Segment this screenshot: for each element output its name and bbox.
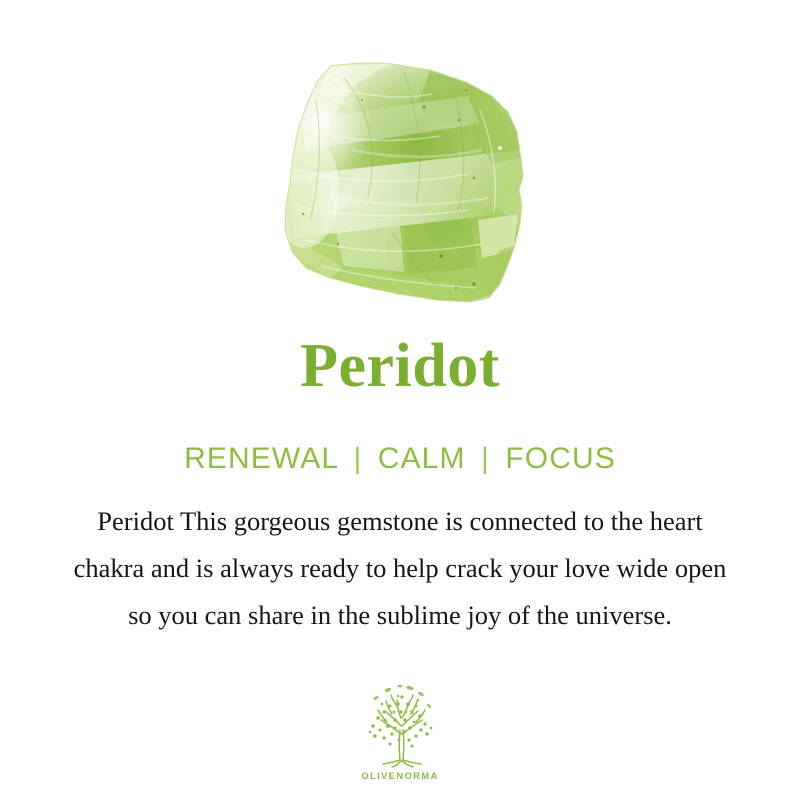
tree-icon xyxy=(354,682,446,770)
gemstone-info-card: Peridot RENEWAL | CALM | FOCUS Peridot T… xyxy=(0,0,800,800)
description-line-3: so you can share in the sublime joy of t… xyxy=(18,592,782,639)
keyword-focus: FOCUS xyxy=(505,442,616,475)
stone-body xyxy=(268,54,530,308)
keyword-calm: CALM xyxy=(378,442,466,475)
peridot-stone-image xyxy=(0,0,800,330)
description-paragraph: Peridot This gorgeous gemstone is connec… xyxy=(18,498,782,639)
description-line-2: chakra and is always ready to help crack… xyxy=(18,545,782,592)
keyword-separator-2: | xyxy=(475,442,496,475)
page-title: Peridot xyxy=(0,331,800,401)
keyword-separator-1: | xyxy=(347,442,368,475)
logo-wordmark: OLIVENORMA xyxy=(350,771,450,782)
brand-logo[interactable]: OLIVENORMA xyxy=(350,682,450,786)
description-line-1: Peridot This gorgeous gemstone is connec… xyxy=(18,498,782,545)
keyword-line: RENEWAL | CALM | FOCUS xyxy=(0,440,800,478)
keyword-renewal: RENEWAL xyxy=(184,442,338,475)
